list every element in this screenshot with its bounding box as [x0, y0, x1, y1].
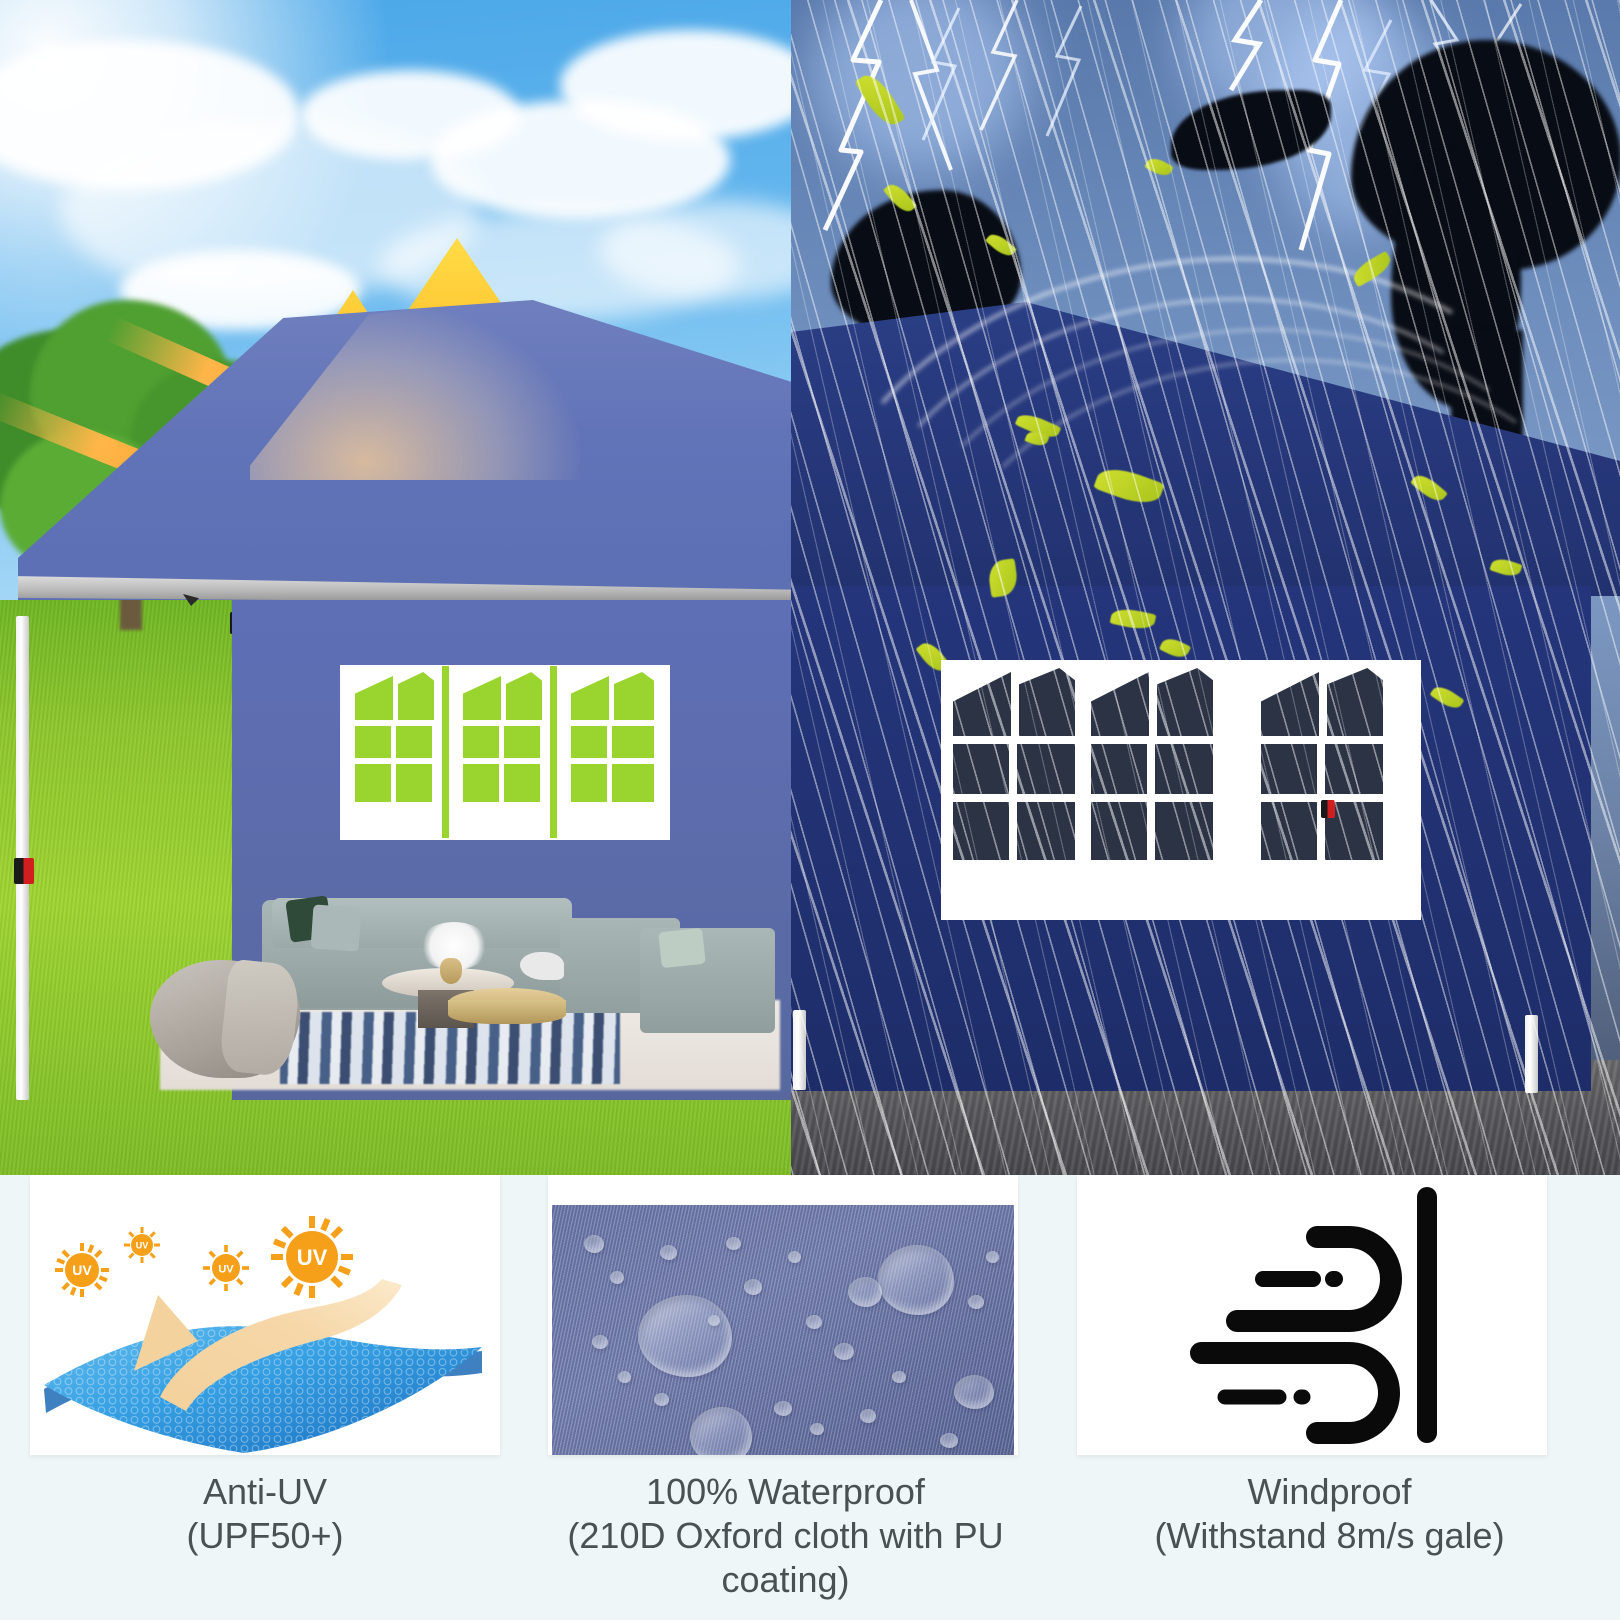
water-droplet — [592, 1335, 608, 1349]
feature-subtitle: (UPF50+) — [30, 1514, 500, 1558]
feature-title: 100% Waterproof — [646, 1471, 925, 1512]
water-droplet — [618, 1371, 631, 1383]
sunny-day-scene — [0, 0, 791, 1175]
feature-subtitle: (210D Oxford cloth with PU coating) — [528, 1514, 1043, 1602]
throw-pillow — [658, 928, 706, 968]
scene-strip — [0, 0, 1620, 1175]
water-droplet — [660, 1245, 677, 1260]
window-seam — [550, 666, 557, 838]
water-droplet — [940, 1433, 958, 1448]
water-droplet — [834, 1343, 854, 1360]
sculpture-decor — [520, 952, 564, 980]
leg-buckle — [14, 858, 34, 884]
vase — [440, 958, 462, 984]
window-pane — [396, 764, 432, 802]
feature-title: Anti-UV — [203, 1471, 327, 1512]
water-droplet — [860, 1409, 876, 1423]
window-pane — [571, 764, 607, 802]
window-pane — [504, 764, 540, 802]
water-droplet — [584, 1235, 604, 1253]
product-feature-infographic: UV UV — [0, 0, 1620, 1620]
water-droplet — [968, 1295, 984, 1309]
throw-pillow — [311, 904, 362, 951]
feature-subtitle: (Withstand 8m/s gale) — [1072, 1514, 1587, 1558]
uv-reflect-fabric-icon: UV UV — [30, 1175, 500, 1455]
rain-overlay — [791, 0, 1620, 1175]
svg-text:UV: UV — [218, 1264, 234, 1276]
water-droplet — [610, 1271, 624, 1284]
wind-barrier-icon — [1077, 1175, 1547, 1455]
window-pane — [612, 726, 654, 758]
storm-scene — [791, 0, 1620, 1175]
svg-text:UV: UV — [136, 1241, 149, 1251]
water-droplet — [708, 1315, 720, 1326]
feature-caption-waterproof: 100% Waterproof (210D Oxford cloth with … — [528, 1470, 1043, 1602]
water-droplet — [954, 1375, 994, 1409]
oxford-fabric-texture — [552, 1205, 1014, 1455]
feature-panels: UV UV — [0, 1175, 1620, 1620]
svg-text:UV: UV — [72, 1262, 92, 1278]
window-pane — [463, 726, 499, 758]
water-droplet — [788, 1251, 801, 1263]
svg-text:UV: UV — [297, 1245, 328, 1270]
window-pane — [396, 726, 432, 758]
feature-panel-anti-uv[interactable]: UV UV — [30, 1175, 500, 1455]
feature-panel-waterproof[interactable] — [548, 1175, 1018, 1455]
feature-title: Windproof — [1247, 1471, 1411, 1512]
water-droplet — [654, 1393, 669, 1406]
water-droplet — [848, 1277, 882, 1307]
uv-sun-badge: UV UV — [55, 1216, 353, 1298]
window-pane — [504, 726, 540, 758]
water-droplet — [878, 1245, 954, 1315]
feature-caption-windproof: Windproof (Withstand 8m/s gale) — [1072, 1470, 1587, 1558]
water-droplet — [638, 1295, 732, 1377]
gold-side-table-body — [448, 1000, 566, 1024]
water-droplet — [744, 1279, 762, 1295]
water-droplet — [774, 1401, 792, 1416]
feature-panel-windproof[interactable] — [1077, 1175, 1547, 1455]
water-droplet — [892, 1371, 906, 1383]
window-pane — [612, 764, 654, 802]
window-pane — [571, 726, 607, 758]
water-droplet — [726, 1237, 741, 1250]
window-pane — [463, 764, 499, 802]
water-droplet — [810, 1423, 824, 1435]
water-droplet — [986, 1251, 999, 1263]
water-droplet — [806, 1315, 822, 1329]
feature-caption-anti-uv: Anti-UV (UPF50+) — [30, 1470, 500, 1558]
window-pane — [355, 726, 391, 758]
window-seam — [442, 666, 449, 838]
window-pane — [355, 764, 391, 802]
